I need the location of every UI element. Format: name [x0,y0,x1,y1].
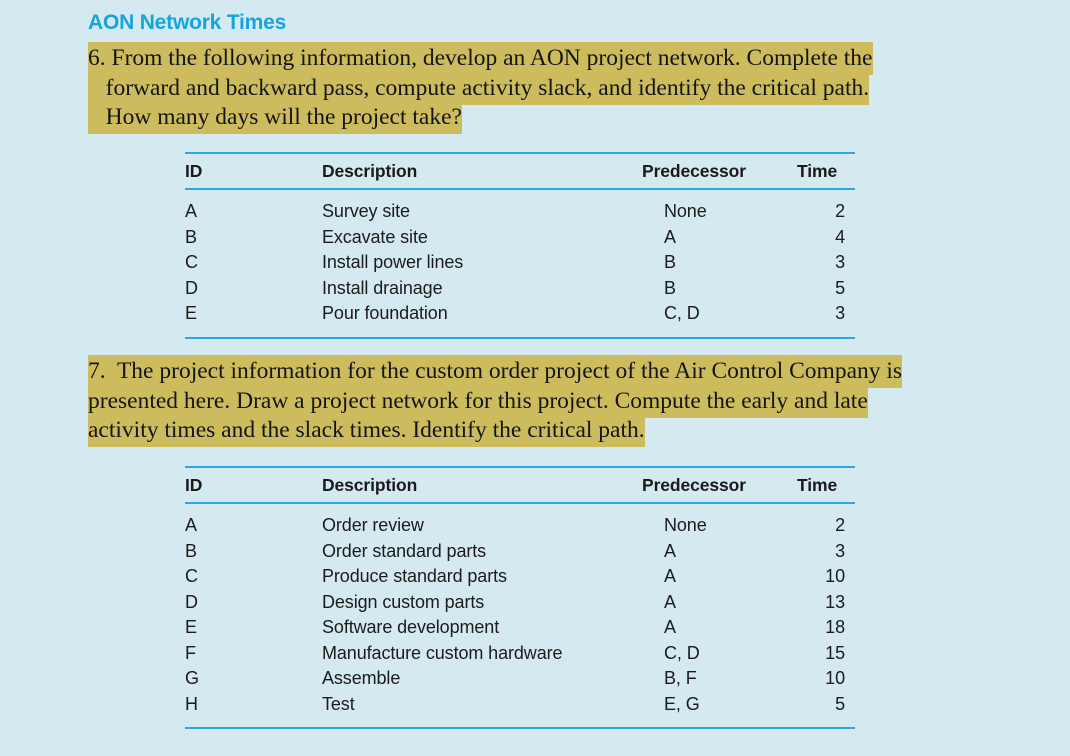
cell-pred: A [642,564,781,590]
table-2-bottom-rule [185,727,855,729]
cell-desc: Survey site [322,190,642,225]
table-2-col-pred: Predecessor [642,468,781,502]
question-6-number: 6. [88,44,106,74]
table-row: E Pour foundation C, D 3 [185,301,855,337]
section-heading: AON Network Times [88,11,286,35]
table-row: A Survey site None 2 [185,190,855,225]
cell-time: 4 [781,225,855,251]
table-row: A Order review None 2 [185,504,855,539]
cell-desc: Order review [322,504,642,539]
question-6-line-2: forward and backward pass, compute activ… [88,74,873,104]
cell-id: A [185,504,322,539]
cell-id: E [185,615,322,641]
question-6-text-3: How many days will the project take? [106,104,462,130]
table-row: C Install power lines B 3 [185,250,855,276]
table-1-col-pred: Predecessor [642,154,781,188]
question-6-text-1: From the following information, develop … [112,45,873,71]
table-2-col-time: Time [781,468,855,502]
cell-pred: B, F [642,666,781,692]
cell-desc: Excavate site [322,225,642,251]
table-row: H Test E, G 5 [185,692,855,728]
cell-id: D [185,276,322,302]
question-6-line-3: How many days will the project take? [88,103,873,133]
table-2-col-id: ID [185,468,322,502]
cell-desc: Produce standard parts [322,564,642,590]
table-row: B Excavate site A 4 [185,225,855,251]
question-7-line-3: activity times and the slack times. Iden… [88,416,902,446]
question-6-text-2: forward and backward pass, compute activ… [106,75,869,101]
table-2-grid: ID Description Predecessor Time [185,468,855,502]
cell-time: 3 [781,539,855,565]
cell-id: G [185,666,322,692]
cell-pred: None [642,190,781,225]
table-1-body: A Survey site None 2 B Excavate site A 4… [185,190,855,337]
cell-time: 15 [781,641,855,667]
cell-time: 10 [781,564,855,590]
cell-pred: C, D [642,641,781,667]
cell-desc: Design custom parts [322,590,642,616]
cell-id: C [185,250,322,276]
table-row: C Produce standard parts A 10 [185,564,855,590]
cell-desc: Install drainage [322,276,642,302]
table-1: ID Description Predecessor Time A Survey… [185,152,855,339]
cell-time: 3 [781,250,855,276]
cell-id: B [185,225,322,251]
question-7-line-1: 7. The project information for the custo… [88,357,902,387]
table-row: D Design custom parts A 13 [185,590,855,616]
question-7-number: 7. [88,357,106,387]
cell-desc: Test [322,692,642,728]
table-row: E Software development A 18 [185,615,855,641]
table-1-header-row: ID Description Predecessor Time [185,154,855,188]
cell-id: D [185,590,322,616]
cell-id: C [185,564,322,590]
table-row: D Install drainage B 5 [185,276,855,302]
table-2-header-row: ID Description Predecessor Time [185,468,855,502]
cell-desc: Manufacture custom hardware [322,641,642,667]
question-7-block: 7. The project information for the custo… [88,357,902,446]
cell-desc: Order standard parts [322,539,642,565]
cell-id: F [185,641,322,667]
cell-pred: A [642,225,781,251]
cell-pred: A [642,615,781,641]
cell-desc: Assemble [322,666,642,692]
cell-pred: B [642,250,781,276]
question-7-text-2: presented here. Draw a project network f… [88,388,868,414]
table-2-body: A Order review None 2 B Order standard p… [185,504,855,727]
table-2: ID Description Predecessor Time A Order … [185,466,855,729]
cell-time: 13 [781,590,855,616]
table-row: F Manufacture custom hardware C, D 15 [185,641,855,667]
table-row: G Assemble B, F 10 [185,666,855,692]
cell-desc: Pour foundation [322,301,642,337]
cell-id: H [185,692,322,728]
cell-time: 5 [781,692,855,728]
cell-pred: B [642,276,781,302]
table-1-grid: ID Description Predecessor Time [185,154,855,188]
question-7-text-3: activity times and the slack times. Iden… [88,417,645,443]
table-2-col-desc: Description [322,468,642,502]
cell-time: 18 [781,615,855,641]
cell-time: 3 [781,301,855,337]
cell-time: 2 [781,504,855,539]
cell-id: B [185,539,322,565]
table-1-bottom-rule [185,337,855,339]
question-7-text-1: The project information for the custom o… [117,358,902,384]
cell-pred: None [642,504,781,539]
cell-pred: A [642,539,781,565]
cell-pred: E, G [642,692,781,728]
question-7-line-2: presented here. Draw a project network f… [88,387,902,417]
cell-time: 2 [781,190,855,225]
page-root: AON Network Times 6. From the following … [0,0,1070,756]
cell-desc: Install power lines [322,250,642,276]
cell-id: A [185,190,322,225]
question-6-block: 6. From the following information, devel… [88,44,873,133]
table-1-col-time: Time [781,154,855,188]
table-row: B Order standard parts A 3 [185,539,855,565]
cell-time: 10 [781,666,855,692]
table-1-col-id: ID [185,154,322,188]
cell-id: E [185,301,322,337]
cell-desc: Software development [322,615,642,641]
table-1-col-desc: Description [322,154,642,188]
cell-pred: A [642,590,781,616]
cell-pred: C, D [642,301,781,337]
cell-time: 5 [781,276,855,302]
question-6-line-1: 6. From the following information, devel… [88,44,873,74]
